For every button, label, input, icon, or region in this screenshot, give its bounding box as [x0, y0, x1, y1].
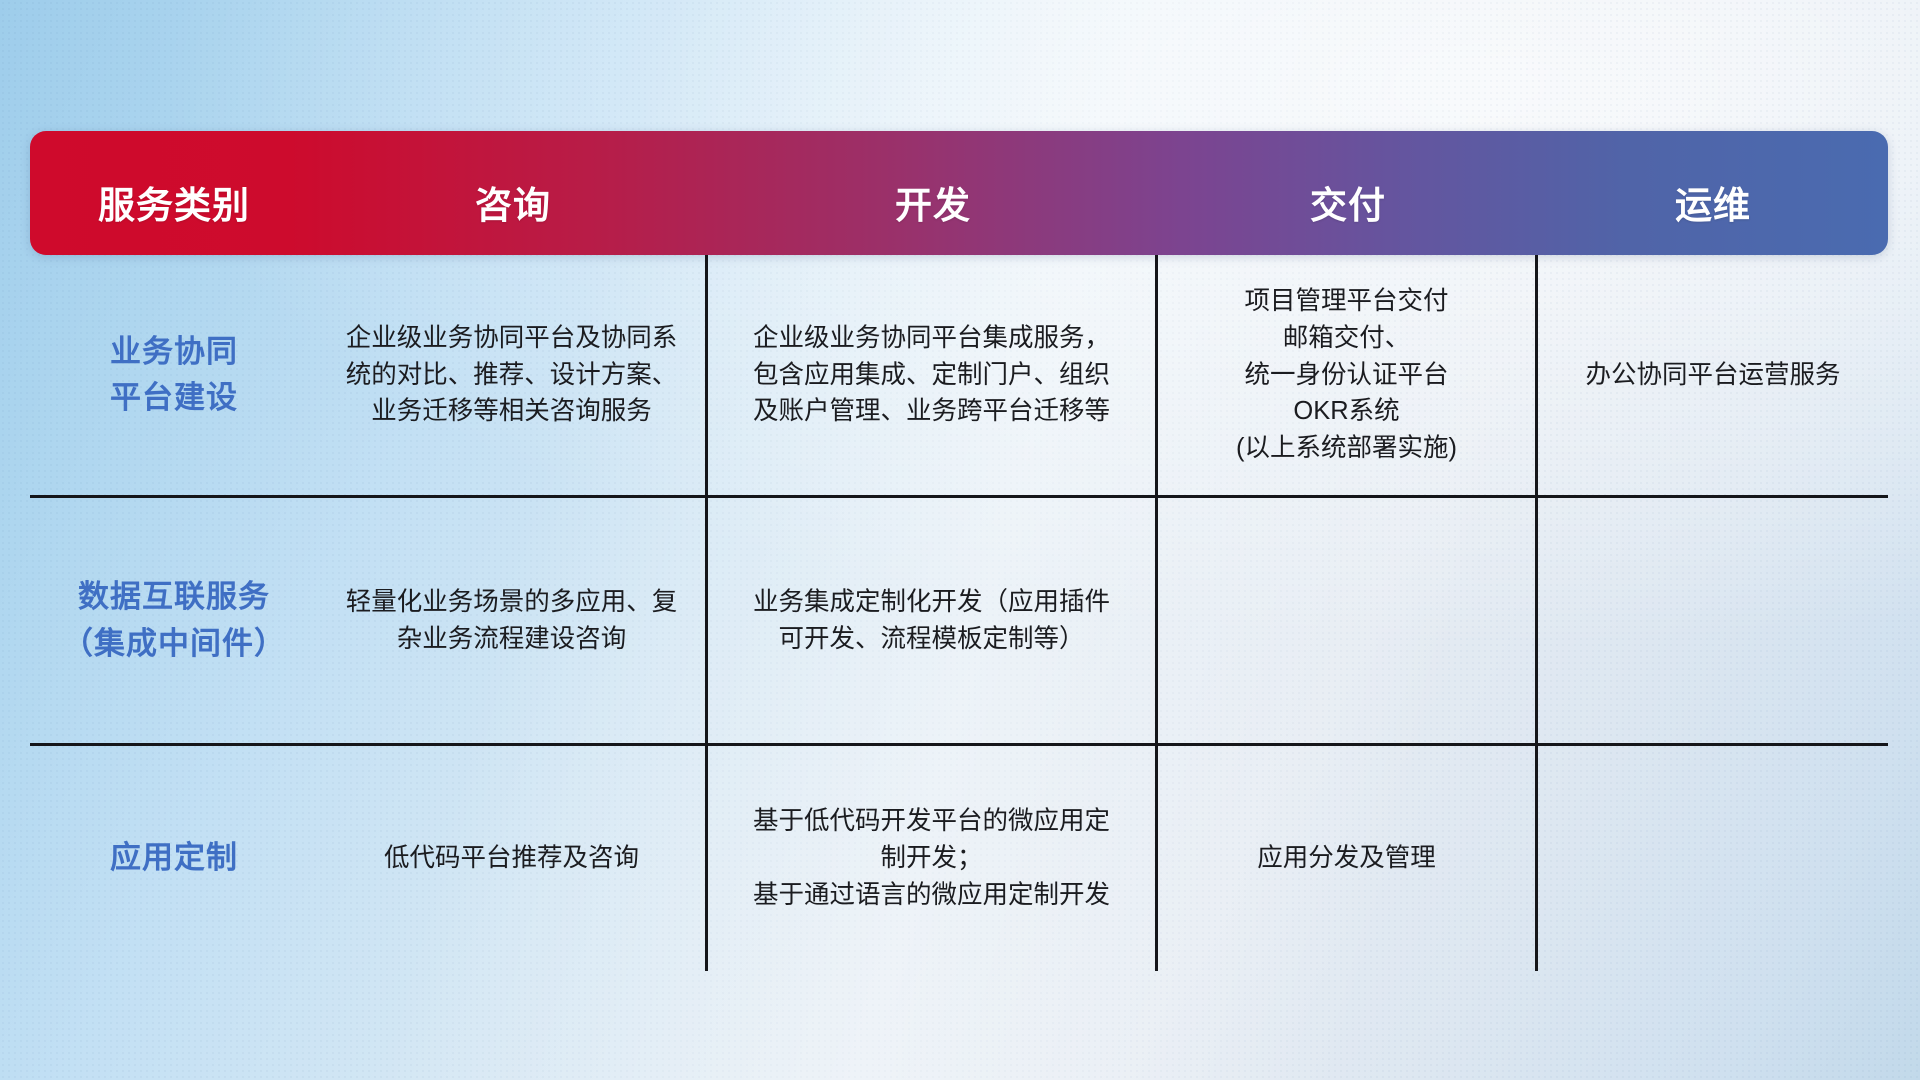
cell-text: 项目管理平台交付 邮箱交付、 统一身份认证平台 OKR系统 (以上系统部署实施)	[1236, 283, 1457, 467]
cell-text: 企业级业务协同平台及协同系 统的对比、推荐、设计方案、 业务迁移等相关咨询服务	[346, 320, 678, 430]
category-label: 应用定制	[110, 835, 238, 882]
cell-text: 企业级业务协同平台集成服务， 包含应用集成、定制门户、组织 及账户管理、业务跨平…	[753, 320, 1110, 430]
cell-category: 应用定制	[30, 746, 318, 971]
column-header-development: 开发	[708, 131, 1158, 255]
table-body: 业务协同 平台建设 企业级业务协同平台及协同系 统的对比、推荐、设计方案、 业务…	[30, 255, 1888, 971]
table-row: 业务协同 平台建设 企业级业务协同平台及协同系 统的对比、推荐、设计方案、 业务…	[30, 255, 1888, 498]
cell-operations	[1538, 746, 1888, 971]
cell-consulting: 轻量化业务场景的多应用、复 杂业务流程建设咨询	[318, 498, 708, 743]
service-category-table: 服务类别 咨询 开发 交付 运维 业务协同 平台建设 企业级业务协同平台及协同系…	[30, 131, 1888, 971]
cell-text: 业务集成定制化开发（应用插件 可开发、流程模板定制等）	[753, 584, 1110, 657]
slide-canvas: 服务类别 咨询 开发 交付 运维 业务协同 平台建设 企业级业务协同平台及协同系…	[0, 0, 1920, 1080]
cell-text: 基于低代码开发平台的微应用定 制开发； 基于通过语言的微应用定制开发	[753, 803, 1110, 913]
cell-development: 基于低代码开发平台的微应用定 制开发； 基于通过语言的微应用定制开发	[708, 746, 1158, 971]
cell-text: 轻量化业务场景的多应用、复 杂业务流程建设咨询	[346, 584, 678, 657]
cell-consulting: 低代码平台推荐及咨询	[318, 746, 708, 971]
cell-text: 办公协同平台运营服务	[1585, 357, 1840, 394]
cell-category: 数据互联服务 （集成中间件）	[30, 498, 318, 743]
category-label: 业务协同 平台建设	[110, 329, 238, 422]
cell-delivery: 项目管理平台交付 邮箱交付、 统一身份认证平台 OKR系统 (以上系统部署实施)	[1158, 255, 1538, 495]
column-header-consulting: 咨询	[318, 131, 708, 255]
cell-text: 低代码平台推荐及咨询	[384, 840, 639, 877]
cell-consulting: 企业级业务协同平台及协同系 统的对比、推荐、设计方案、 业务迁移等相关咨询服务	[318, 255, 708, 495]
cell-development: 企业级业务协同平台集成服务， 包含应用集成、定制门户、组织 及账户管理、业务跨平…	[708, 255, 1158, 495]
column-header-operations: 运维	[1538, 131, 1888, 255]
cell-text: 应用分发及管理	[1257, 840, 1436, 877]
table-row: 应用定制 低代码平台推荐及咨询 基于低代码开发平台的微应用定 制开发； 基于通过…	[30, 746, 1888, 971]
column-header-category: 服务类别	[30, 131, 318, 255]
table-header-row: 服务类别 咨询 开发 交付 运维	[30, 131, 1888, 255]
cell-operations	[1538, 498, 1888, 743]
column-header-delivery: 交付	[1158, 131, 1538, 255]
cell-delivery: 应用分发及管理	[1158, 746, 1538, 971]
category-label: 数据互联服务 （集成中间件）	[62, 574, 286, 667]
cell-delivery	[1158, 498, 1538, 743]
table-row: 数据互联服务 （集成中间件） 轻量化业务场景的多应用、复 杂业务流程建设咨询 业…	[30, 498, 1888, 746]
cell-operations: 办公协同平台运营服务	[1538, 255, 1888, 495]
cell-category: 业务协同 平台建设	[30, 255, 318, 495]
cell-development: 业务集成定制化开发（应用插件 可开发、流程模板定制等）	[708, 498, 1158, 743]
